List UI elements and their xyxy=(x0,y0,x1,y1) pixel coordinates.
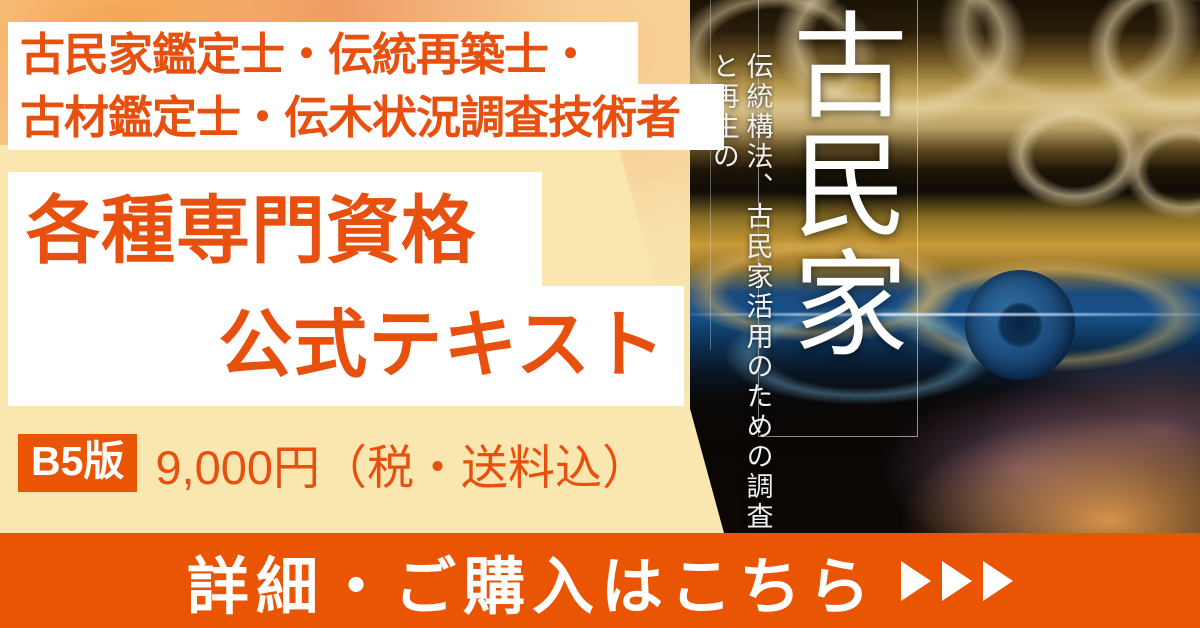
price-amount: 9,000円（税・送料込） xyxy=(155,429,649,498)
product-title: 各種専門資格 公式テキスト xyxy=(26,176,706,404)
chevron-right-icon xyxy=(942,561,972,601)
cta-bar[interactable]: 詳細・ご購入はこちら xyxy=(0,533,1200,628)
headline-line-2: 古材鑑定士・伝木状況調査技術者 xyxy=(20,86,720,150)
promo-banner: 伝統構法、古民家活用のための調査と再生の 古民家 古民家鑑定士・伝統再築士・ 古… xyxy=(0,0,1200,628)
chevron-right-icon xyxy=(901,561,931,601)
family-crest-icon xyxy=(965,270,1075,380)
chevron-right-icon xyxy=(983,561,1013,601)
book-cover-image: 伝統構法、古民家活用のための調査と再生の 古民家 xyxy=(690,0,1200,533)
headline-line-1: 古民家鑑定士・伝統再築士・ xyxy=(20,29,592,80)
product-title-line-2: 公式テキスト xyxy=(26,286,666,404)
cover-title: 古民家 xyxy=(772,6,907,363)
qualifications-headline: 古民家鑑定士・伝統再築士・ 古材鑑定士・伝木状況調査技術者 xyxy=(20,24,720,150)
price-row: B5版 9,000円（税・送料込） xyxy=(18,430,649,496)
format-badge: B5版 xyxy=(18,434,137,492)
product-title-line-1: 各種専門資格 xyxy=(26,189,476,272)
cta-label: 詳細・ご購入はこちら xyxy=(187,536,877,626)
cta-arrows xyxy=(901,561,1013,601)
